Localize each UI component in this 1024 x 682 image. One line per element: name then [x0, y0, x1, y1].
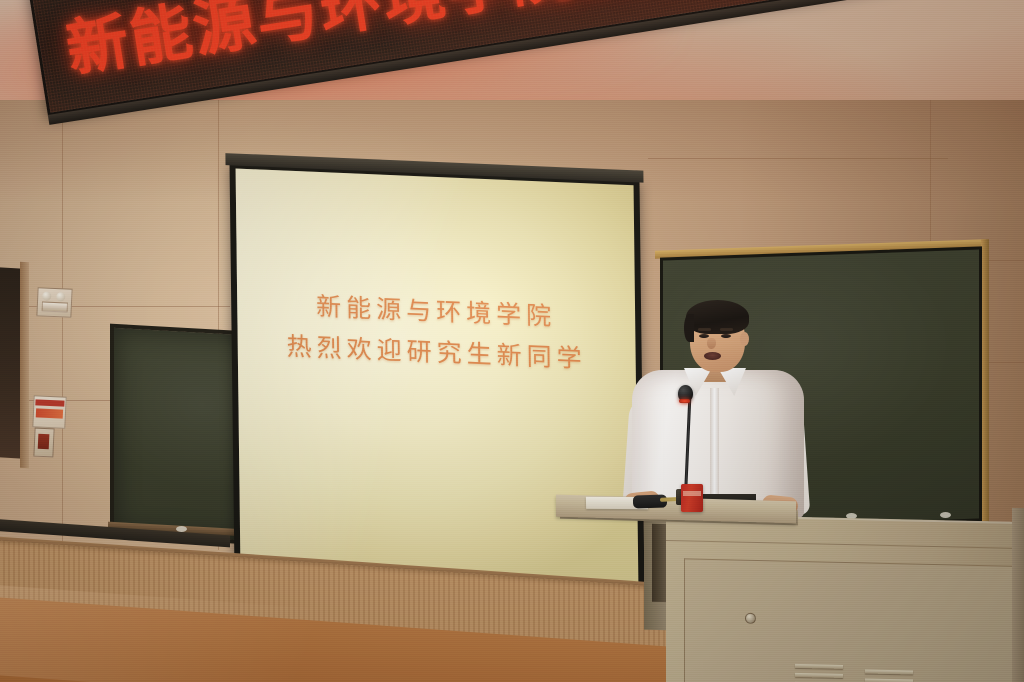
alarm-call-point[interactable] — [33, 428, 54, 458]
lecture-hall-photo: 新能源与环境学院 热烈欢迎研究生新同学 — [0, 0, 1024, 682]
wall-seam — [62, 110, 63, 550]
shirt-placket — [710, 388, 719, 508]
door-frame — [20, 262, 29, 469]
hair-sideburn — [684, 314, 694, 342]
mouth — [704, 352, 721, 360]
lectern-right-edge — [1012, 508, 1024, 682]
red-thermos-cup[interactable] — [681, 484, 703, 512]
hair — [686, 300, 749, 334]
nose — [707, 338, 716, 349]
lectern-seam — [666, 540, 1024, 549]
lectern-vent-left — [795, 664, 843, 682]
microphone-indicator-light — [679, 399, 690, 403]
lectern-lock[interactable] — [745, 613, 756, 624]
lectern-vent-right — [865, 669, 913, 682]
wall-seam — [648, 158, 948, 159]
slide-text: 新能源与环境学院 热烈欢迎研究生新同学 — [237, 284, 636, 382]
lectern — [556, 498, 1024, 682]
eye-right — [721, 334, 731, 338]
cup-label — [683, 491, 701, 496]
eyebrow-left — [698, 328, 711, 331]
ear — [740, 332, 749, 346]
lectern-body — [666, 514, 1024, 682]
wall-seam — [0, 306, 230, 307]
lectern-cabinet-door[interactable] — [684, 558, 1024, 682]
light-switch-plate[interactable] — [36, 287, 72, 318]
fire-notice-sign — [32, 395, 66, 428]
chalkboard-gold-frame-right — [981, 239, 989, 525]
eye-left — [699, 334, 709, 338]
screen-light-sheen — [236, 169, 500, 583]
presenter — [612, 300, 812, 515]
eyebrow-right — [720, 328, 733, 331]
